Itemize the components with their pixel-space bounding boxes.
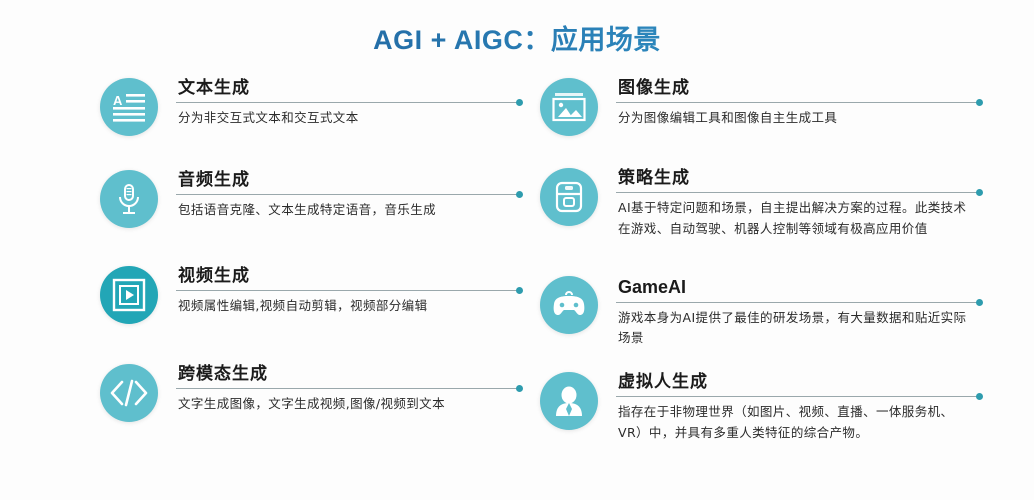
feature-body: 虚拟人生成 指存在于非物理世界（如图片、视频、直播、一体服务机、VR）中，并具有…	[616, 372, 980, 443]
feature-body: 图像生成 分为图像编辑工具和图像自主生成工具	[616, 78, 980, 136]
connector-dot	[976, 99, 983, 106]
feature-body: 视频生成 视频属性编辑,视频自动剪辑，视频部分编辑	[176, 266, 520, 324]
connector-dot	[516, 385, 523, 392]
text-document-icon: A	[100, 78, 158, 136]
feature-item-virtual-human-generation[interactable]: 虚拟人生成 指存在于非物理世界（如图片、视频、直播、一体服务机、VR）中，并具有…	[540, 372, 980, 472]
left-column: A 文本生成 分为非交互式文本和交互式文本	[100, 78, 520, 462]
feature-body: 音频生成 包括语音克隆、文本生成特定语音，音乐生成	[176, 170, 520, 228]
feature-heading: 虚拟人生成	[616, 372, 980, 396]
connector-line	[616, 396, 980, 397]
connector-dot	[516, 99, 523, 106]
feature-item-image-generation[interactable]: 图像生成 分为图像编辑工具和图像自主生成工具	[540, 78, 980, 160]
feature-item-strategy-generation[interactable]: 策略生成 AI基于特定问题和场景，自主提出解决方案的过程。此类技术在游戏、自动驾…	[540, 168, 980, 268]
connector-dot	[976, 189, 983, 196]
feature-description: 分为图像编辑工具和图像自主生成工具	[616, 108, 968, 128]
feature-item-text-generation[interactable]: A 文本生成 分为非交互式文本和交互式文本	[100, 78, 520, 162]
connector-line	[176, 388, 520, 389]
feature-heading: 跨模态生成	[176, 364, 520, 388]
feature-body: GameAI 游戏本身为AI提供了最佳的研发场景，有大量数据和贴近实际场景	[616, 276, 980, 348]
connector-line	[176, 102, 520, 103]
connector-line	[616, 302, 980, 303]
connector-line	[176, 194, 520, 195]
feature-item-game-ai[interactable]: GameAI 游戏本身为AI提供了最佳的研发场景，有大量数据和贴近实际场景	[540, 276, 980, 364]
feature-heading: GameAI	[616, 276, 980, 302]
feature-heading: 策略生成	[616, 168, 980, 192]
feature-description: 文字生成图像，文字生成视频,图像/视频到文本	[176, 394, 508, 414]
feature-item-cross-modal-generation[interactable]: 跨模态生成 文字生成图像，文字生成视频,图像/视频到文本	[100, 364, 520, 454]
feature-description: 包括语音克隆、文本生成特定语音，音乐生成	[176, 200, 508, 220]
strategy-card-icon	[540, 168, 598, 226]
right-column: 图像生成 分为图像编辑工具和图像自主生成工具 策略生成 AI基于特定问题和场景，…	[540, 78, 980, 480]
svg-text:A: A	[113, 93, 123, 108]
connector-dot	[516, 287, 523, 294]
feature-heading: 音频生成	[176, 170, 520, 194]
connector-dot	[516, 191, 523, 198]
video-play-icon	[100, 266, 158, 324]
feature-body: 策略生成 AI基于特定问题和场景，自主提出解决方案的过程。此类技术在游戏、自动驾…	[616, 168, 980, 239]
connector-dot	[976, 393, 983, 400]
slide-canvas: AGI + AIGC：应用场景 A 文本生成 分为非交互式文本和交互式文本	[0, 0, 1034, 500]
connector-line	[616, 192, 980, 193]
image-picture-icon	[540, 78, 598, 136]
connector-line	[176, 290, 520, 291]
microphone-icon	[100, 170, 158, 228]
page-title: AGI + AIGC：应用场景	[0, 18, 1034, 57]
feature-item-video-generation[interactable]: 视频生成 视频属性编辑,视频自动剪辑，视频部分编辑	[100, 266, 520, 356]
feature-description: 视频属性编辑,视频自动剪辑，视频部分编辑	[176, 296, 508, 316]
feature-item-audio-generation[interactable]: 音频生成 包括语音克隆、文本生成特定语音，音乐生成	[100, 170, 520, 258]
feature-description: 分为非交互式文本和交互式文本	[176, 108, 508, 128]
feature-description: 指存在于非物理世界（如图片、视频、直播、一体服务机、VR）中，并具有多重人类特征…	[616, 402, 968, 443]
gamepad-icon	[540, 276, 598, 334]
feature-heading: 图像生成	[616, 78, 980, 102]
feature-heading: 视频生成	[176, 266, 520, 290]
connector-line	[616, 102, 980, 103]
feature-description: AI基于特定问题和场景，自主提出解决方案的过程。此类技术在游戏、自动驾驶、机器人…	[616, 198, 968, 239]
person-avatar-icon	[540, 372, 598, 430]
feature-body: 跨模态生成 文字生成图像，文字生成视频,图像/视频到文本	[176, 364, 520, 422]
feature-heading: 文本生成	[176, 78, 520, 102]
feature-description: 游戏本身为AI提供了最佳的研发场景，有大量数据和贴近实际场景	[616, 308, 968, 349]
code-brackets-icon	[100, 364, 158, 422]
feature-body: 文本生成 分为非交互式文本和交互式文本	[176, 78, 520, 136]
connector-dot	[976, 299, 983, 306]
